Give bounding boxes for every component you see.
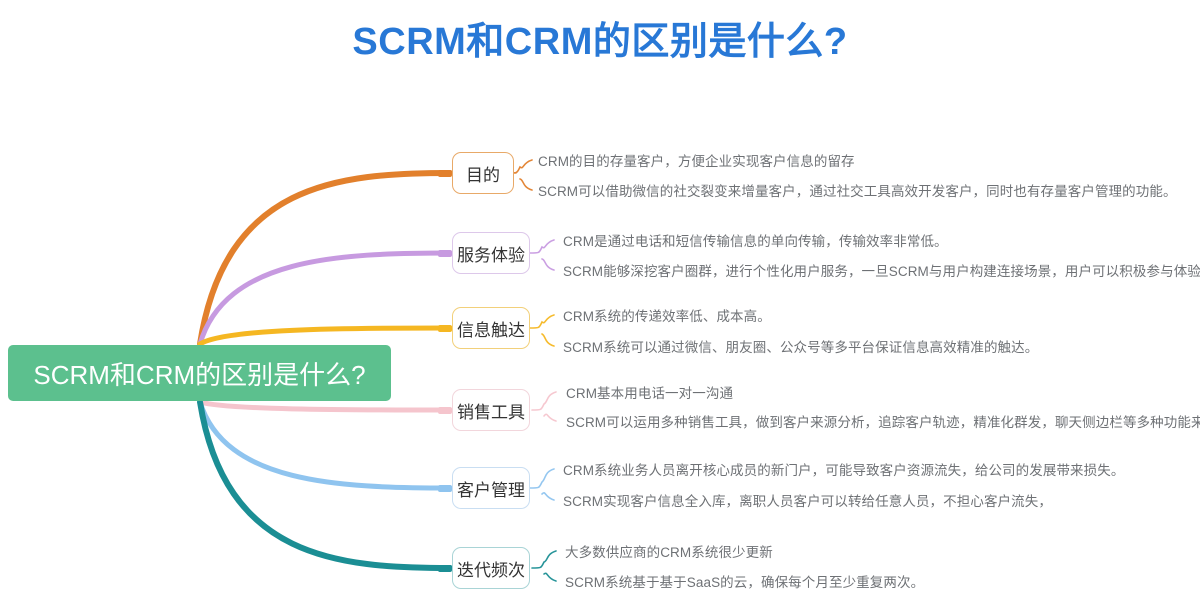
branch-node-label: 服务体验 xyxy=(457,241,525,266)
root-node-label: SCRM和CRM的区别是什么? xyxy=(33,355,365,392)
branch-stub xyxy=(438,485,452,492)
leaf-bracket xyxy=(530,315,554,346)
leaf-text-1-1: CRM的目的存量客户，方便企业实现客户信息的留存 xyxy=(538,150,855,170)
branch-node-4[interactable]: 销售工具 xyxy=(452,389,530,431)
leaf-text-6-1: 大多数供应商的CRM系统很少更新 xyxy=(565,541,773,561)
branch-node-label: 客户管理 xyxy=(457,476,525,501)
branch-node-label: 迭代频次 xyxy=(457,556,525,581)
branch-stub xyxy=(438,407,452,414)
branch-node-6[interactable]: 迭代频次 xyxy=(452,547,530,589)
leaf-text-5-2: SCRM实现客户信息全入库，离职人员客户可以转给任意人员，不担心客户流失， xyxy=(563,490,1052,510)
leaf-text-4-2: SCRM可以运用多种销售工具，做到客户来源分析，追踪客户轨迹，精准化群发，聊天侧… xyxy=(566,411,1200,431)
branch-node-1[interactable]: 目的 xyxy=(452,152,514,194)
branch-connector xyxy=(200,402,450,410)
branch-node-label: 目的 xyxy=(466,161,500,186)
branch-node-2[interactable]: 服务体验 xyxy=(452,232,530,274)
branch-connector xyxy=(200,253,450,344)
leaf-bracket xyxy=(532,392,556,421)
leaf-text-2-2: SCRM能够深挖客户圈群，进行个性化用户服务，一旦SCRM与用户构建连接场景，用… xyxy=(563,260,1200,280)
leaf-text-6-2: SCRM系统基于基于SaaS的云，确保每个月至少重复两次。 xyxy=(565,571,924,591)
branch-connector xyxy=(200,402,450,568)
branch-node-label: 销售工具 xyxy=(457,398,525,423)
leaf-text-2-1: CRM是通过电话和短信传输信息的单向传输，传输效率非常低。 xyxy=(563,230,948,250)
branch-connector xyxy=(200,173,450,344)
branch-stub xyxy=(438,565,452,572)
branch-node-label: 信息触达 xyxy=(457,316,525,341)
page-title: SCRM和CRM的区别是什么? xyxy=(0,10,1200,65)
root-node[interactable]: SCRM和CRM的区别是什么? xyxy=(8,345,391,401)
branch-stub xyxy=(438,325,452,332)
branch-node-3[interactable]: 信息触达 xyxy=(452,307,530,349)
leaf-text-1-2: SCRM可以借助微信的社交裂变来增量客户，通过社交工具高效开发客户，同时也有存量… xyxy=(538,180,1177,200)
leaf-text-3-2: SCRM系统可以通过微信、朋友圈、公众号等多平台保证信息高效精准的触达。 xyxy=(563,336,1038,356)
branch-node-5[interactable]: 客户管理 xyxy=(452,467,530,509)
branch-connector xyxy=(200,402,450,488)
branch-connector xyxy=(200,328,450,344)
branch-stub xyxy=(438,170,452,177)
leaf-bracket xyxy=(530,469,554,500)
leaf-text-3-1: CRM系统的传递效率低、成本高。 xyxy=(563,305,771,325)
leaf-text-5-1: CRM系统业务人员离开核心成员的新门户，可能导致客户资源流失，给公司的发展带来损… xyxy=(563,459,1124,479)
leaf-bracket xyxy=(532,551,556,581)
leaf-text-4-1: CRM基本用电话一对一沟通 xyxy=(566,382,733,402)
branch-stub xyxy=(438,250,452,257)
mindmap-canvas: SCRM和CRM的区别是什么? SCRM和CRM的区别是什么? 目的CRM的目的… xyxy=(0,0,1200,595)
leaf-bracket xyxy=(530,240,554,270)
